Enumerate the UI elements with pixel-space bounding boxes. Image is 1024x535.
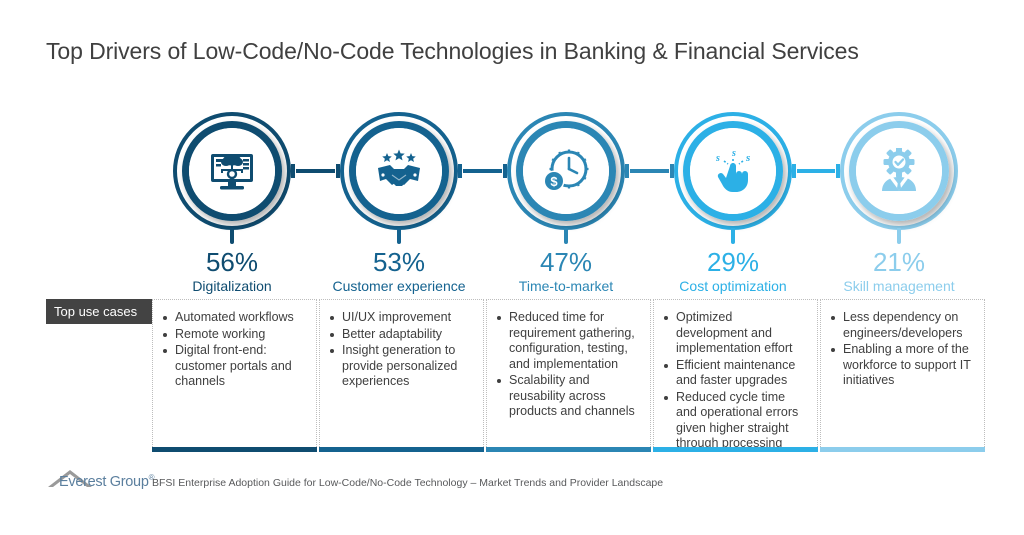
use-case-list: Optimized development and implementation…	[654, 300, 817, 452]
handshake-stars-icon	[374, 149, 424, 193]
driver-icon-container	[189, 128, 275, 214]
driver-percent: 21%	[799, 248, 999, 276]
column-accent-bar-4	[653, 447, 818, 452]
footer-caption: BFSI Enterprise Adoption Guide for Low-C…	[152, 477, 663, 489]
driver-stem	[564, 228, 568, 244]
driver-stem	[397, 228, 401, 244]
use-case-item: Insight generation to provide personaliz…	[328, 343, 473, 390]
hand-click-dollar-icon: s s s	[708, 148, 758, 194]
use-case-column-3: Reduced time for requirement gathering, …	[486, 299, 651, 447]
column-accent-bar-2	[319, 447, 484, 452]
use-case-item: Remote working	[161, 327, 306, 343]
use-case-item: Better adaptability	[328, 327, 473, 343]
driver-icon-container: s s s	[690, 128, 776, 214]
use-case-item: Enabling a more of the workforce to supp…	[829, 342, 974, 389]
driver-connector-4	[792, 164, 840, 178]
driver-stem	[731, 228, 735, 244]
use-case-item: Reduced time for requirement gathering, …	[495, 310, 640, 372]
use-case-item: Less dependency on engineers/developers	[829, 310, 974, 341]
use-case-item: Automated workflows	[161, 310, 306, 326]
svg-text:$: $	[550, 174, 558, 189]
use-case-list: Less dependency on engineers/developersE…	[821, 300, 984, 389]
use-case-item: Scalability and reusability across produ…	[495, 373, 640, 420]
driver-icon-container	[856, 128, 942, 214]
use-case-item: Optimized development and implementation…	[662, 310, 807, 357]
driver-node-2[interactable]	[340, 112, 458, 230]
column-accent-bar-3	[486, 447, 651, 452]
use-case-column-4: Optimized development and implementation…	[653, 299, 818, 447]
driver-icon-container: $	[523, 128, 609, 214]
use-case-item: Digital front-end: customer portals and …	[161, 343, 306, 390]
use-case-column-5: Less dependency on engineers/developersE…	[820, 299, 985, 447]
cloud-monitor-network-icon	[207, 148, 257, 194]
driver-node-1[interactable]	[173, 112, 291, 230]
driver-node-5[interactable]	[840, 112, 958, 230]
svg-text:s: s	[745, 152, 750, 164]
driver-node-4[interactable]: s s s	[674, 112, 792, 230]
page-title: Top Drivers of Low-Code/No-Code Technolo…	[46, 38, 859, 65]
driver-circles-row: $ s s s	[0, 112, 1024, 230]
logo-wordmark: Everest Group®	[59, 473, 154, 490]
driver-connector-3	[625, 164, 674, 178]
driver-node-3[interactable]: $	[507, 112, 625, 230]
svg-text:s: s	[731, 148, 736, 159]
column-accent-bar-5	[820, 447, 985, 452]
driver-stat-5: 21%Skill management	[799, 248, 999, 295]
driver-connector-2	[458, 164, 507, 178]
use-case-list: Automated workflowsRemote workingDigital…	[153, 300, 316, 390]
driver-stem	[230, 228, 234, 244]
column-accent-bar-1	[152, 447, 317, 452]
use-case-item: UI/UX improvement	[328, 310, 473, 326]
person-gear-check-icon	[874, 148, 924, 194]
use-case-item: Efficient maintenance and faster upgrade…	[662, 358, 807, 389]
driver-connector-1	[291, 164, 340, 178]
use-case-column-1: Automated workflowsRemote workingDigital…	[152, 299, 317, 447]
use-case-column-2: UI/UX improvementBetter adaptabilityInsi…	[319, 299, 484, 447]
everest-group-logo: Everest Group®	[46, 468, 151, 494]
driver-stem	[897, 228, 901, 244]
use-case-item: Reduced cycle time and operational error…	[662, 390, 807, 452]
clock-dollar-icon: $	[541, 148, 591, 194]
svg-text:s: s	[715, 153, 720, 164]
top-use-cases-badge: Top use cases	[46, 299, 156, 324]
infographic-slide: Top Drivers of Low-Code/No-Code Technolo…	[0, 0, 1024, 535]
driver-icon-container	[356, 128, 442, 214]
use-case-list: Reduced time for requirement gathering, …	[487, 300, 650, 420]
driver-label: Skill management	[799, 277, 999, 295]
use-case-list: UI/UX improvementBetter adaptabilityInsi…	[320, 300, 483, 390]
